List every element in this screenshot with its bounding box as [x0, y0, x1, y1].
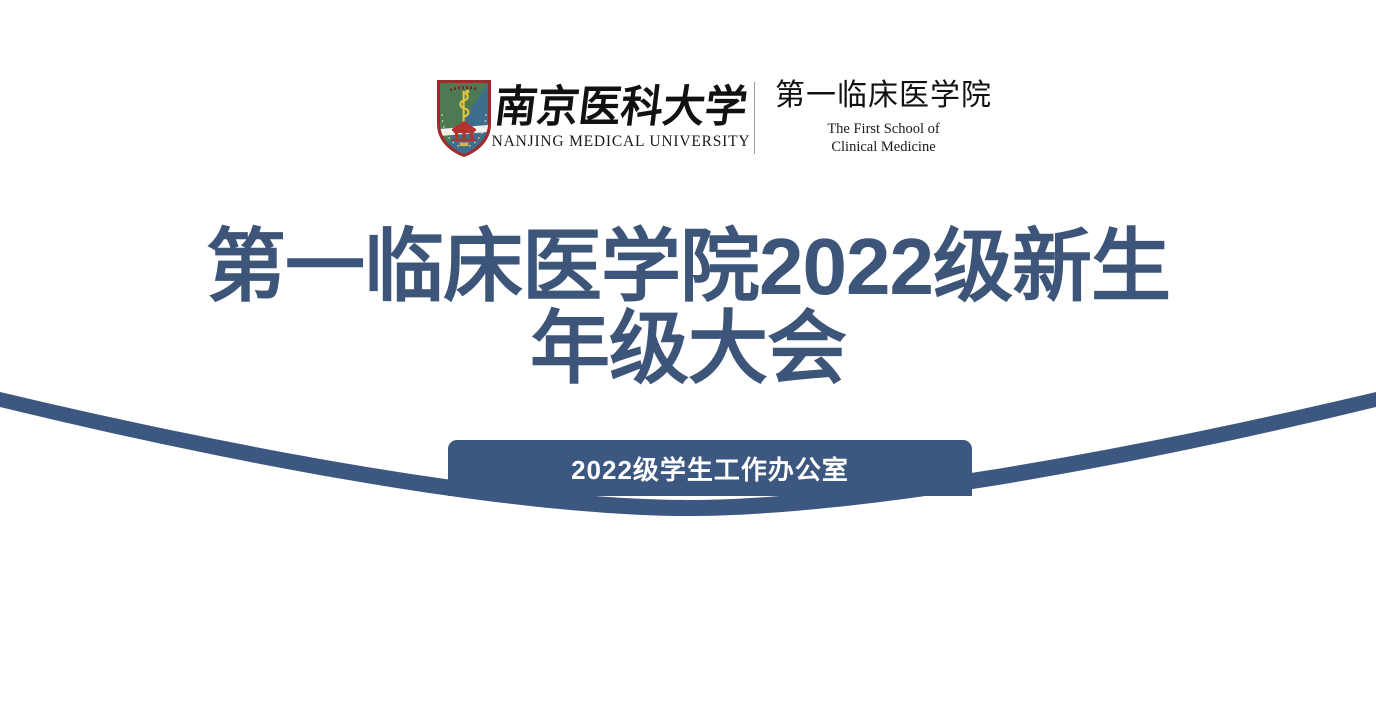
slide-main-title: 第一临床医学院2022级新生 年级大会: [0, 226, 1376, 390]
school-name-en: The First School of Clinical Medicine: [827, 120, 939, 156]
presentation-title-slide: 南京医科大学 NANJING MEDICAL UNIVERSITY 第一临床医学…: [0, 0, 1376, 704]
school-name-cn: 第一临床医学院: [775, 80, 992, 112]
university-name-cn: 南京医科大学: [492, 85, 749, 129]
logo-vertical-divider: [754, 82, 755, 154]
institution-logo-lockup: 南京医科大学 NANJING MEDICAL UNIVERSITY 第一临床医学…: [436, 70, 956, 166]
university-name-block: 南京医科大学 NANJING MEDICAL UNIVERSITY: [502, 86, 740, 151]
subtitle-banner-label: 2022级学生工作办公室: [571, 450, 849, 487]
university-name-en: NANJING MEDICAL UNIVERSITY: [492, 133, 751, 151]
university-shield-emblem-icon: [436, 79, 492, 157]
school-name-block: 第一临床医学院 The First School of Clinical Med…: [775, 80, 992, 156]
subtitle-banner: 2022级学生工作办公室: [448, 440, 972, 496]
